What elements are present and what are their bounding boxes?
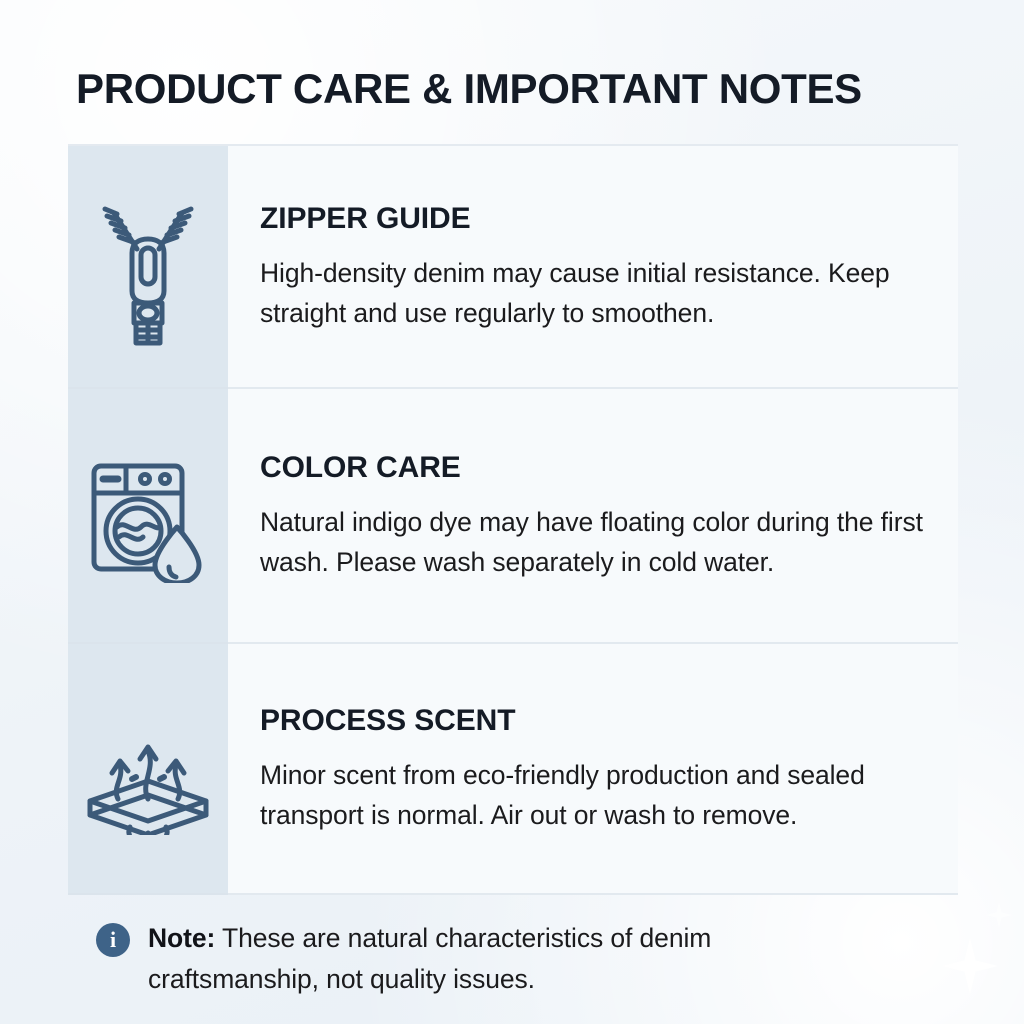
footer-note-body: These are natural characteristics of den… — [148, 923, 711, 994]
icon-cell-process-scent — [68, 644, 228, 893]
care-row-title: PROCESS SCENT — [260, 703, 938, 739]
divider-bottom — [68, 893, 958, 895]
care-row-description: Minor scent from eco-friendly production… — [260, 755, 938, 835]
care-row-zipper-guide: ZIPPER GUIDE High-density denim may caus… — [68, 146, 958, 387]
zipper-icon — [92, 187, 204, 347]
icon-cell-color-care — [68, 389, 228, 642]
care-row-title: COLOR CARE — [260, 450, 938, 486]
breathable-layers-icon — [78, 703, 218, 835]
icon-cell-zipper — [68, 146, 228, 387]
product-care-infographic: PRODUCT CARE & IMPORTANT NOTES — [0, 0, 1024, 1024]
page-title: PRODUCT CARE & IMPORTANT NOTES — [76, 63, 862, 115]
care-row-color-care: COLOR CARE Natural indigo dye may have f… — [68, 389, 958, 642]
care-row-description: High-density denim may cause initial res… — [260, 253, 938, 333]
text-cell-color-care: COLOR CARE Natural indigo dye may have f… — [228, 389, 958, 642]
footer-note: i Note: These are natural characteristic… — [96, 918, 926, 1000]
footer-note-lead: Note: — [148, 923, 215, 953]
info-icon-glyph: i — [96, 923, 130, 957]
sparkle-decoration-small — [986, 902, 1012, 928]
info-icon: i — [96, 923, 130, 957]
care-row-title: ZIPPER GUIDE — [260, 201, 938, 237]
washing-machine-icon — [81, 449, 215, 583]
sparkle-decoration-large — [942, 938, 998, 994]
care-row-process-scent: PROCESS SCENT Minor scent from eco-frien… — [68, 644, 958, 893]
text-cell-zipper: ZIPPER GUIDE High-density denim may caus… — [228, 146, 958, 387]
care-row-description: Natural indigo dye may have floating col… — [260, 502, 938, 582]
care-notes-table: ZIPPER GUIDE High-density denim may caus… — [68, 144, 958, 895]
text-cell-process-scent: PROCESS SCENT Minor scent from eco-frien… — [228, 644, 958, 893]
footer-note-text: Note: These are natural characteristics … — [148, 918, 888, 1000]
